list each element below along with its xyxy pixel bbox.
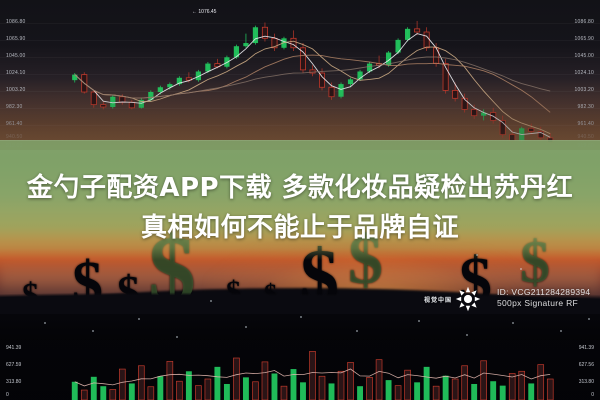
volume-bar xyxy=(243,377,249,400)
price-tick-label: 961.40 xyxy=(578,121,595,127)
price-tick-label: 1065.90 xyxy=(575,36,594,42)
volume-bar xyxy=(490,381,496,400)
price-tick-label: 982.30 xyxy=(6,104,23,110)
candlestick xyxy=(529,128,534,131)
price-tick-label: 1065.90 xyxy=(6,36,25,42)
price-tick-label: 1024.10 xyxy=(575,70,594,76)
price-tick-label: 1003.20 xyxy=(6,87,25,93)
volume-bar xyxy=(329,383,335,400)
volume-bar xyxy=(119,369,125,400)
volume-bar xyxy=(224,384,230,400)
volume-bar xyxy=(310,351,316,400)
bokeh-speck xyxy=(138,318,140,320)
volume-tick-label: 627.56 xyxy=(579,362,594,368)
volume-bar xyxy=(395,386,401,400)
volume-bar xyxy=(509,373,515,400)
volume-bar xyxy=(262,362,268,400)
candlestick xyxy=(348,79,353,84)
price-tick-label: 1024.10 xyxy=(6,70,25,76)
volume-tick-label: 627.59 xyxy=(6,362,21,368)
annotation-value: 1076.45 xyxy=(198,9,216,15)
volume-bar xyxy=(414,382,420,400)
volume-bar xyxy=(110,390,116,400)
volume-bar xyxy=(319,376,325,400)
candlestick xyxy=(405,29,410,40)
candlestick xyxy=(243,43,248,46)
watermark: 视觉中国 xyxy=(424,286,481,312)
price-tick-label: 1003.20 xyxy=(575,87,594,93)
candlestick xyxy=(434,48,439,64)
volume-tick-label: 941.39 xyxy=(6,345,21,351)
volume-bar xyxy=(538,365,544,400)
bokeh-speck xyxy=(588,318,590,320)
volume-bar xyxy=(338,371,344,400)
candlestick xyxy=(472,109,477,115)
candlestick xyxy=(158,87,163,92)
volume-bar xyxy=(281,386,287,400)
volume-bar xyxy=(357,386,363,400)
watermark-logo-text: 视觉中国 xyxy=(424,295,452,304)
candlestick xyxy=(453,90,458,98)
candlestick xyxy=(129,102,134,108)
volume-bar xyxy=(386,380,392,400)
candlestick xyxy=(110,97,115,107)
candlestick xyxy=(414,29,419,32)
volume-tick-label: 313.80 xyxy=(579,379,594,385)
candlestick xyxy=(424,32,429,48)
volume-bar xyxy=(138,366,144,400)
volume-bar xyxy=(300,382,306,400)
bokeh-speck xyxy=(92,330,94,332)
volume-bar xyxy=(252,382,258,400)
bokeh-speck xyxy=(44,322,46,324)
volume-bar xyxy=(452,379,458,400)
price-chart: ← 1076.45 1086.801065.901045.001024.1010… xyxy=(0,0,600,150)
volume-bar xyxy=(195,386,201,400)
bokeh-speck xyxy=(176,336,178,338)
candlestick xyxy=(338,84,343,97)
bokeh-speck xyxy=(512,322,514,324)
volume-tick-label: 0 xyxy=(6,392,9,398)
volume-bar xyxy=(424,367,430,400)
volume-bar xyxy=(81,390,87,400)
watermark-starburst-icon xyxy=(455,286,481,312)
watermark-text: ID: VCG211284289394 500px Signature RF xyxy=(497,287,590,309)
volume-bar xyxy=(214,367,220,400)
price-tick-label: 1045.00 xyxy=(6,53,25,59)
watermark-source: 500px Signature RF xyxy=(497,298,590,309)
volume-tick-label: 0 xyxy=(591,392,594,398)
price-tick-label: 982.30 xyxy=(578,104,595,110)
screenshot-root: $ $ $ $ $ $ $ $ $ $ xyxy=(0,0,600,400)
volume-bar xyxy=(462,366,468,400)
price-annotation: ← 1076.45 xyxy=(192,9,216,15)
volume-bar xyxy=(205,379,211,400)
candlestick xyxy=(205,64,210,72)
volume-bar xyxy=(72,382,78,400)
candlestick xyxy=(319,73,324,87)
volume-tick-label: 941.39 xyxy=(579,345,594,351)
volume-chart: 941.39627.59313.800 941.39627.56313.800 xyxy=(0,340,600,400)
volume-tick-label: 313.80 xyxy=(6,379,21,385)
volume-bar xyxy=(500,386,506,400)
price-tick-label: 1086.80 xyxy=(575,19,594,25)
volume-series-canvas xyxy=(0,340,600,400)
volume-bar xyxy=(367,377,373,400)
price-tick-label: 961.40 xyxy=(6,121,23,127)
bokeh-speck xyxy=(466,334,468,336)
price-tick-label: 1086.80 xyxy=(6,19,25,25)
candlestick xyxy=(120,97,125,103)
candlestick xyxy=(72,75,77,81)
volume-bar xyxy=(100,386,106,400)
candlestick xyxy=(329,87,334,96)
volume-bar xyxy=(376,360,382,400)
volume-bar xyxy=(291,369,297,400)
volume-bar xyxy=(481,361,487,400)
volume-bar xyxy=(176,381,182,400)
title-band-top-edge xyxy=(0,140,600,141)
bokeh-speck xyxy=(418,320,420,322)
bokeh-speck xyxy=(356,330,358,332)
bokeh-speck xyxy=(245,326,247,328)
bokeh-speck xyxy=(560,330,562,332)
watermark-id: ID: VCG211284289394 xyxy=(497,287,590,298)
volume-bar xyxy=(547,379,553,400)
volume-bar xyxy=(443,376,449,400)
volume-bar xyxy=(272,373,278,400)
candlestick xyxy=(91,92,96,105)
volume-bar xyxy=(91,377,97,400)
volume-bar xyxy=(157,376,163,400)
bokeh-speck xyxy=(520,268,522,270)
candlestick xyxy=(101,105,106,107)
bokeh-speck xyxy=(210,300,212,302)
price-tick-label: 1045.00 xyxy=(575,53,594,59)
volume-bar xyxy=(148,387,154,400)
page-title-line1: 金勺子配资APP下载 多款化妆品疑检出苏丹红 xyxy=(0,168,600,208)
volume-bar xyxy=(348,362,354,400)
volume-bar xyxy=(167,361,173,400)
volume-bar xyxy=(471,384,477,400)
candlestick xyxy=(462,98,467,109)
price-series-canvas xyxy=(0,0,600,150)
volume-bar xyxy=(129,383,135,400)
volume-bar xyxy=(528,383,534,400)
page-title-line2: 真相如何不能止于品牌自证 xyxy=(0,208,600,248)
bokeh-speck xyxy=(300,316,302,318)
volume-bar xyxy=(433,386,439,400)
volume-bar xyxy=(233,358,239,400)
annotation-arrow-icon: ← xyxy=(192,9,197,15)
